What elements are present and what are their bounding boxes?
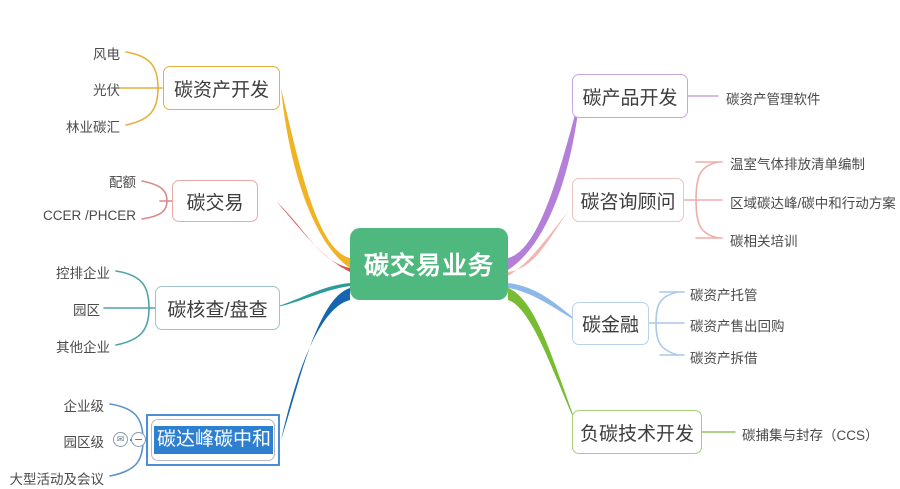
branch-node-carbon-consulting[interactable]: 碳咨询顾问 xyxy=(572,178,684,222)
branch-node-carbon-finance[interactable]: 碳金融 xyxy=(572,302,649,345)
main-curve-carbon-peak-neutrality xyxy=(281,288,350,440)
main-curve-carbon-consulting xyxy=(508,200,578,276)
branch-label-carbon-asset-development: 碳资产开发 xyxy=(174,75,269,102)
leaf-item[interactable]: 控排企业 xyxy=(10,262,110,282)
leaf-item[interactable]: 其他企业 xyxy=(10,336,110,356)
main-curve-negative-carbon-tech xyxy=(508,288,580,432)
root-node[interactable]: 碳交易业务 xyxy=(350,228,508,300)
branch-node-carbon-peak-neutrality-editing[interactable]: 碳达峰碳中和 xyxy=(146,414,280,466)
leaf-label: 碳资产托管 xyxy=(690,288,758,303)
leaf-item[interactable]: 园区 xyxy=(10,299,100,319)
leaf-label: 园区 xyxy=(73,303,100,318)
mindmap-canvas: 碳交易业务 碳资产开发 碳交易 碳核查/盘查 碳达峰碳中和 ✉ 碳产品开发 碳咨… xyxy=(0,0,900,489)
branch-node-carbon-trading[interactable]: 碳交易 xyxy=(172,180,258,222)
note-circle-icon[interactable]: ✉ xyxy=(113,432,128,447)
edit-inner-box: 碳达峰碳中和 xyxy=(151,419,275,461)
leaf-label: 风电 xyxy=(93,47,120,62)
leaf-item[interactable]: 碳资产拆借 xyxy=(690,347,758,367)
leaf-label: 林业碳汇 xyxy=(66,120,120,135)
branch-label-carbon-consulting: 碳咨询顾问 xyxy=(580,187,675,214)
leaf-item[interactable]: 企业级 xyxy=(10,395,104,415)
leaf-item[interactable]: 温室气体排放清单编制 xyxy=(730,153,865,173)
leaf-item[interactable]: 碳捕集与封存（CCS） xyxy=(742,424,879,444)
leaf-label: 碳资产售出回购 xyxy=(690,319,785,334)
leaf-label: 企业级 xyxy=(64,399,105,414)
leaf-label: 碳捕集与封存（CCS） xyxy=(742,428,879,443)
branch-label-carbon-product-development: 碳产品开发 xyxy=(582,83,677,110)
branch-node-carbon-verification[interactable]: 碳核查/盘查 xyxy=(155,286,280,330)
selected-text-carbon-peak-neutrality[interactable]: 碳达峰碳中和 xyxy=(154,426,273,454)
leaf-label: 光伏 xyxy=(93,83,120,98)
leaf-item[interactable]: 碳资产售出回购 xyxy=(690,315,785,335)
leaf-item[interactable]: 碳资产托管 xyxy=(690,284,758,304)
leaf-label: CCER /PHCER xyxy=(43,208,136,223)
bracket-carbon-trading xyxy=(142,181,167,219)
leaf-item[interactable]: 风电 xyxy=(30,43,120,63)
leaf-label: 大型活动及会议 xyxy=(10,472,105,487)
leaf-label: 碳资产拆借 xyxy=(690,351,758,366)
leaf-label: 区域碳达峰/碳中和行动方案 xyxy=(730,196,896,211)
branch-node-carbon-asset-development[interactable]: 碳资产开发 xyxy=(163,66,280,110)
leaf-item[interactable]: CCER /PHCER xyxy=(20,208,136,223)
branch-label-carbon-finance: 碳金融 xyxy=(582,310,639,337)
leaf-label: 其他企业 xyxy=(56,340,110,355)
leaf-label: 温室气体排放清单编制 xyxy=(730,157,865,172)
branch-node-carbon-product-development[interactable]: 碳产品开发 xyxy=(572,74,688,118)
leaf-label: 控排企业 xyxy=(56,266,110,281)
branch-label-carbon-verification: 碳核查/盘查 xyxy=(167,295,267,322)
leaf-item[interactable]: 大型活动及会议 xyxy=(2,468,104,488)
branch-node-negative-carbon-tech[interactable]: 负碳技术开发 xyxy=(572,410,702,454)
leaf-item[interactable]: 光伏 xyxy=(30,79,120,99)
leaf-label: 配额 xyxy=(109,175,136,190)
branch-label-carbon-trading: 碳交易 xyxy=(186,188,243,215)
leaf-item[interactable]: 碳资产管理软件 xyxy=(726,88,821,108)
main-curve-carbon-asset-development xyxy=(281,88,350,268)
branch-label-negative-carbon-tech: 负碳技术开发 xyxy=(580,419,694,446)
leaf-item[interactable]: 配额 xyxy=(60,171,136,191)
leaf-label: 碳资产管理软件 xyxy=(726,92,821,107)
leaf-item[interactable]: 区域碳达峰/碳中和行动方案 xyxy=(730,192,896,212)
leaf-item[interactable]: 林业碳汇 xyxy=(20,116,120,136)
leaf-item[interactable]: 碳相关培训 xyxy=(730,230,798,250)
collapse-minus-icon[interactable] xyxy=(131,432,146,447)
leaf-label: 碳相关培训 xyxy=(730,234,798,249)
root-node-label: 碳交易业务 xyxy=(364,246,494,282)
leaf-label: 园区级 xyxy=(64,435,105,450)
text-caret xyxy=(273,427,274,453)
leaf-item[interactable]: 园区级 xyxy=(10,431,104,451)
